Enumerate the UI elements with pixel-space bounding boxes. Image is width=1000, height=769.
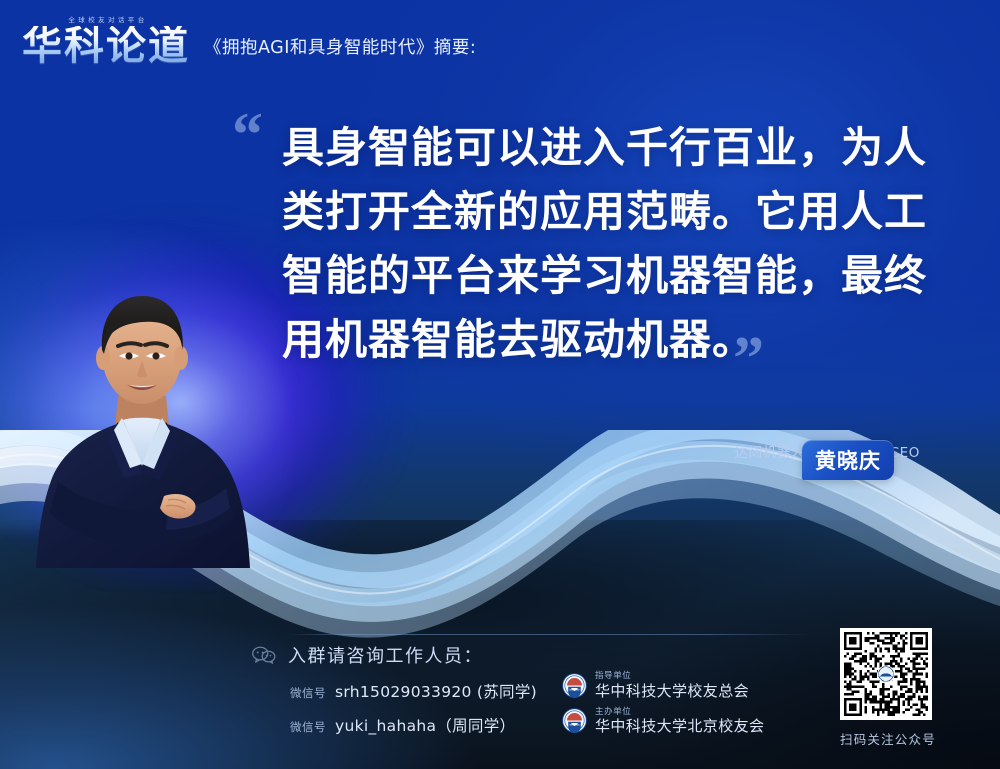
speaker-name: 黄晓庆 [815,445,881,475]
contact-title: 入群请咨询工作人员： [288,642,483,668]
brand-tagline: 全球校友对话平台 [64,14,147,24]
contact-row: 微信号 srh15029033920 (苏同学) [290,680,537,702]
poster-root: 全球校友对话平台 华科论道 《拥抱AGI和具身智能时代》摘要: “ 具身智能可以… [0,0,1000,769]
contact-value[interactable]: srh15029033920 (苏同学) [335,680,537,702]
organization-text: 主办单位 华中科技大学北京校友会 [595,708,764,735]
quote-line: 具身智能可以进入千行百业，为人 [282,116,942,180]
wechat-icon [252,646,276,664]
qr-code[interactable] [840,628,932,720]
contact-header: 入群请咨询工作人员： [252,642,537,668]
speaker-name-badge: 黄晓庆 [802,440,894,480]
contact-label: 微信号 [290,685,326,701]
organization-row: 指导单位 华中科技大学校友总会 [562,672,764,699]
organization-text: 指导单位 华中科技大学校友总会 [595,672,749,699]
quote-open-mark: “ [232,104,263,166]
quote-close-mark: ” [733,328,764,390]
contact-row: 微信号 yuki_hahaha（周同学） [290,714,537,736]
qr-block: 扫码关注公众号 [840,628,936,748]
brand-logo[interactable]: 全球校友对话平台 华科论道 [22,14,190,66]
organizations: 指导单位 华中科技大学校友总会 主办单位 华中科技大学北京校友会 [562,672,764,743]
quote-line: 智能的平台来学习机器智能，最终 [282,244,942,308]
brand-logo-text: 华科论道 [22,26,190,66]
organization-kind: 指导单位 [595,672,749,681]
contact-block: 入群请咨询工作人员： 微信号 srh15029033920 (苏同学) 微信号 … [252,642,537,736]
footer-divider [288,634,810,635]
quote-text: 具身智能可以进入千行百业，为人 类打开全新的应用范畴。它用人工 智能的平台来学习… [282,116,942,372]
quote-line: 类打开全新的应用范畴。它用人工 [282,180,942,244]
header: 全球校友对话平台 华科论道 《拥抱AGI和具身智能时代》摘要: [22,14,476,66]
university-seal-icon [562,708,587,733]
speaker-portrait [18,268,268,568]
organization-name: 华中科技大学校友总会 [595,684,749,699]
contact-label: 微信号 [290,719,326,735]
quote-line: 用机器智能去驱动机器。 [282,308,942,372]
page-title: 《拥抱AGI和具身智能时代》摘要: [204,34,476,66]
organization-kind: 主办单位 [595,708,764,717]
organization-row: 主办单位 华中科技大学北京校友会 [562,708,764,735]
university-seal-icon [562,673,587,698]
organization-name: 华中科技大学北京校友会 [595,719,764,734]
qr-caption: 扫码关注公众号 [840,729,936,748]
contact-value[interactable]: yuki_hahaha（周同学） [335,714,515,736]
